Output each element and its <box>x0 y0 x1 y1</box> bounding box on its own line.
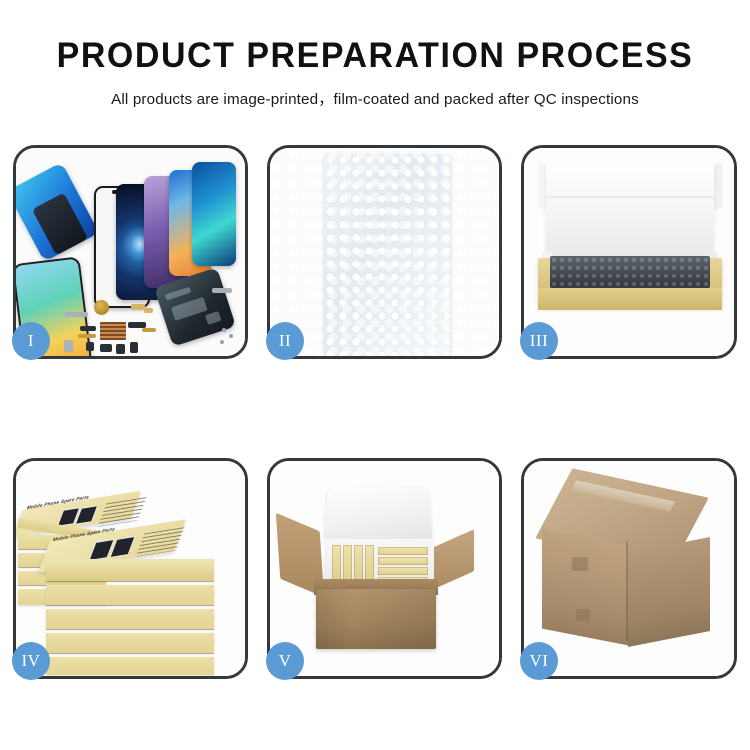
scene-bubble-wrapped-screen <box>270 148 499 356</box>
step-image-3 <box>524 148 734 356</box>
step-badge-4: IV <box>12 642 50 680</box>
step-image-1 <box>16 148 245 356</box>
foam-lid <box>324 487 433 546</box>
spare-parts-cluster <box>16 148 245 356</box>
step-badge-3: III <box>520 322 558 360</box>
retail-box-front-3 <box>46 609 214 629</box>
product-preparation-infographic: PRODUCT PREPARATION PROCESS All products… <box>0 0 750 750</box>
step-panel-6[interactable]: VI <box>521 458 737 679</box>
carton-corner-seam <box>626 541 628 641</box>
step-panel-4[interactable]: Mobile Phone Spare Parts Mobile Phone Sp… <box>13 458 248 679</box>
step-badge-5: V <box>266 642 304 680</box>
carton-right-face <box>628 537 710 647</box>
scene-foam-lined-tray <box>524 148 734 356</box>
packed-box-7 <box>378 567 428 575</box>
tray-front-wall <box>538 288 722 310</box>
carton-left-face <box>542 529 628 646</box>
carton-patch-top <box>572 557 588 571</box>
retail-box-front-5 <box>46 657 214 675</box>
step-panel-2[interactable]: II <box>267 145 502 359</box>
step-image-5 <box>270 461 499 676</box>
scene-sealed-carton <box>524 461 734 676</box>
retail-box-front-2 <box>46 585 214 605</box>
retail-box-front-1 <box>46 559 214 581</box>
step-image-6 <box>524 461 734 676</box>
scene-stacked-retail-boxes: Mobile Phone Spare Parts Mobile Phone Sp… <box>16 461 245 676</box>
white-foam-sheet <box>546 162 714 268</box>
step-panel-1[interactable]: I <box>13 145 248 359</box>
carton-patch-bottom <box>576 609 590 621</box>
step-image-2 <box>270 148 499 356</box>
step-badge-2: II <box>266 322 304 360</box>
step-panel-3[interactable]: III <box>521 145 737 359</box>
retail-box-front-4 <box>46 633 214 653</box>
packed-box-5 <box>378 547 428 555</box>
packed-box-6 <box>378 557 428 565</box>
step-image-4: Mobile Phone Spare Parts Mobile Phone Sp… <box>16 461 245 676</box>
bubble-wrapped-contents <box>550 256 710 288</box>
step-panel-5[interactable]: V <box>267 458 502 679</box>
bubble-wrap-bag <box>324 154 450 356</box>
scene-screens-and-parts <box>16 148 245 356</box>
carton-body <box>316 589 436 649</box>
step-badge-6: VI <box>520 642 558 680</box>
scene-open-shipping-carton <box>270 461 499 676</box>
step-badge-1: I <box>12 322 50 360</box>
step-grid: I II <box>0 0 750 750</box>
